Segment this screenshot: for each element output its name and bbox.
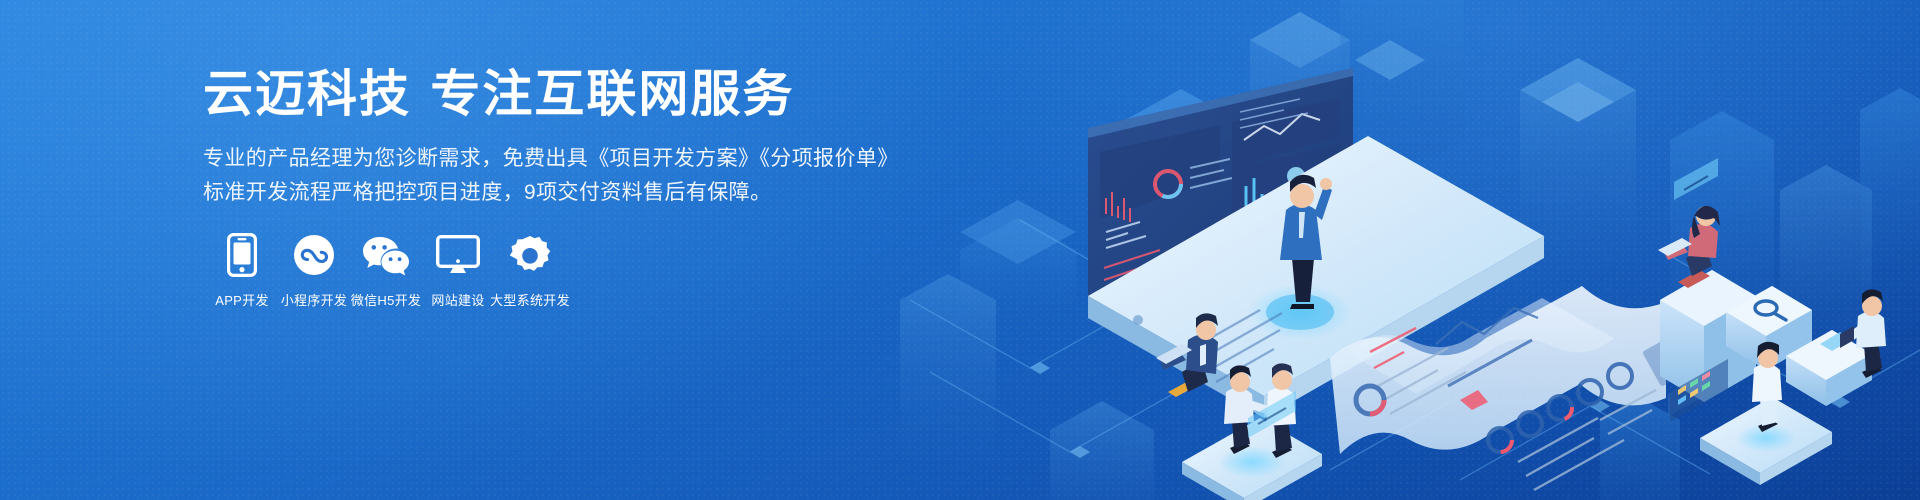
service-label: 网站建设 — [431, 290, 484, 309]
service-item-large-system[interactable]: 大型系统开发 — [494, 232, 566, 309]
service-item-miniprogram[interactable]: 小程序开发 — [278, 232, 350, 309]
service-label: APP开发 — [215, 290, 269, 309]
gear-icon — [509, 232, 551, 278]
mini-program-icon — [293, 232, 335, 278]
monitor-icon — [436, 232, 480, 278]
hero-banner: 云迈科技 专注互联网服务 专业的产品经理为您诊断需求，免费出具《项目开发方案》《… — [0, 0, 1920, 500]
subtitle-line-2: 标准开发流程严格把控项目进度，9项交付资料售后有保障。 — [203, 176, 903, 210]
service-label: 微信H5开发 — [351, 290, 421, 309]
service-list: APP开发 小程序开发 微信 — [206, 232, 566, 309]
hero-subtitle: 专业的产品经理为您诊断需求，免费出具《项目开发方案》《分项报价单》 标准开发流程… — [203, 142, 903, 210]
service-item-wechat-h5[interactable]: 微信H5开发 — [350, 232, 422, 309]
hero-copy: 云迈科技 专注互联网服务 专业的产品经理为您诊断需求，免费出具《项目开发方案》《… — [203, 66, 903, 210]
wechat-icon — [362, 232, 410, 278]
mobile-phone-icon — [227, 232, 257, 278]
service-label: 大型系统开发 — [490, 290, 570, 309]
illustration-isometric-tech — [900, 0, 1920, 500]
page-title: 云迈科技 专注互联网服务 — [203, 66, 903, 122]
service-label: 小程序开发 — [281, 290, 348, 309]
service-item-app[interactable]: APP开发 — [206, 232, 278, 309]
service-item-website[interactable]: 网站建设 — [422, 232, 494, 309]
subtitle-line-1: 专业的产品经理为您诊断需求，免费出具《项目开发方案》《分项报价单》 — [203, 147, 899, 170]
